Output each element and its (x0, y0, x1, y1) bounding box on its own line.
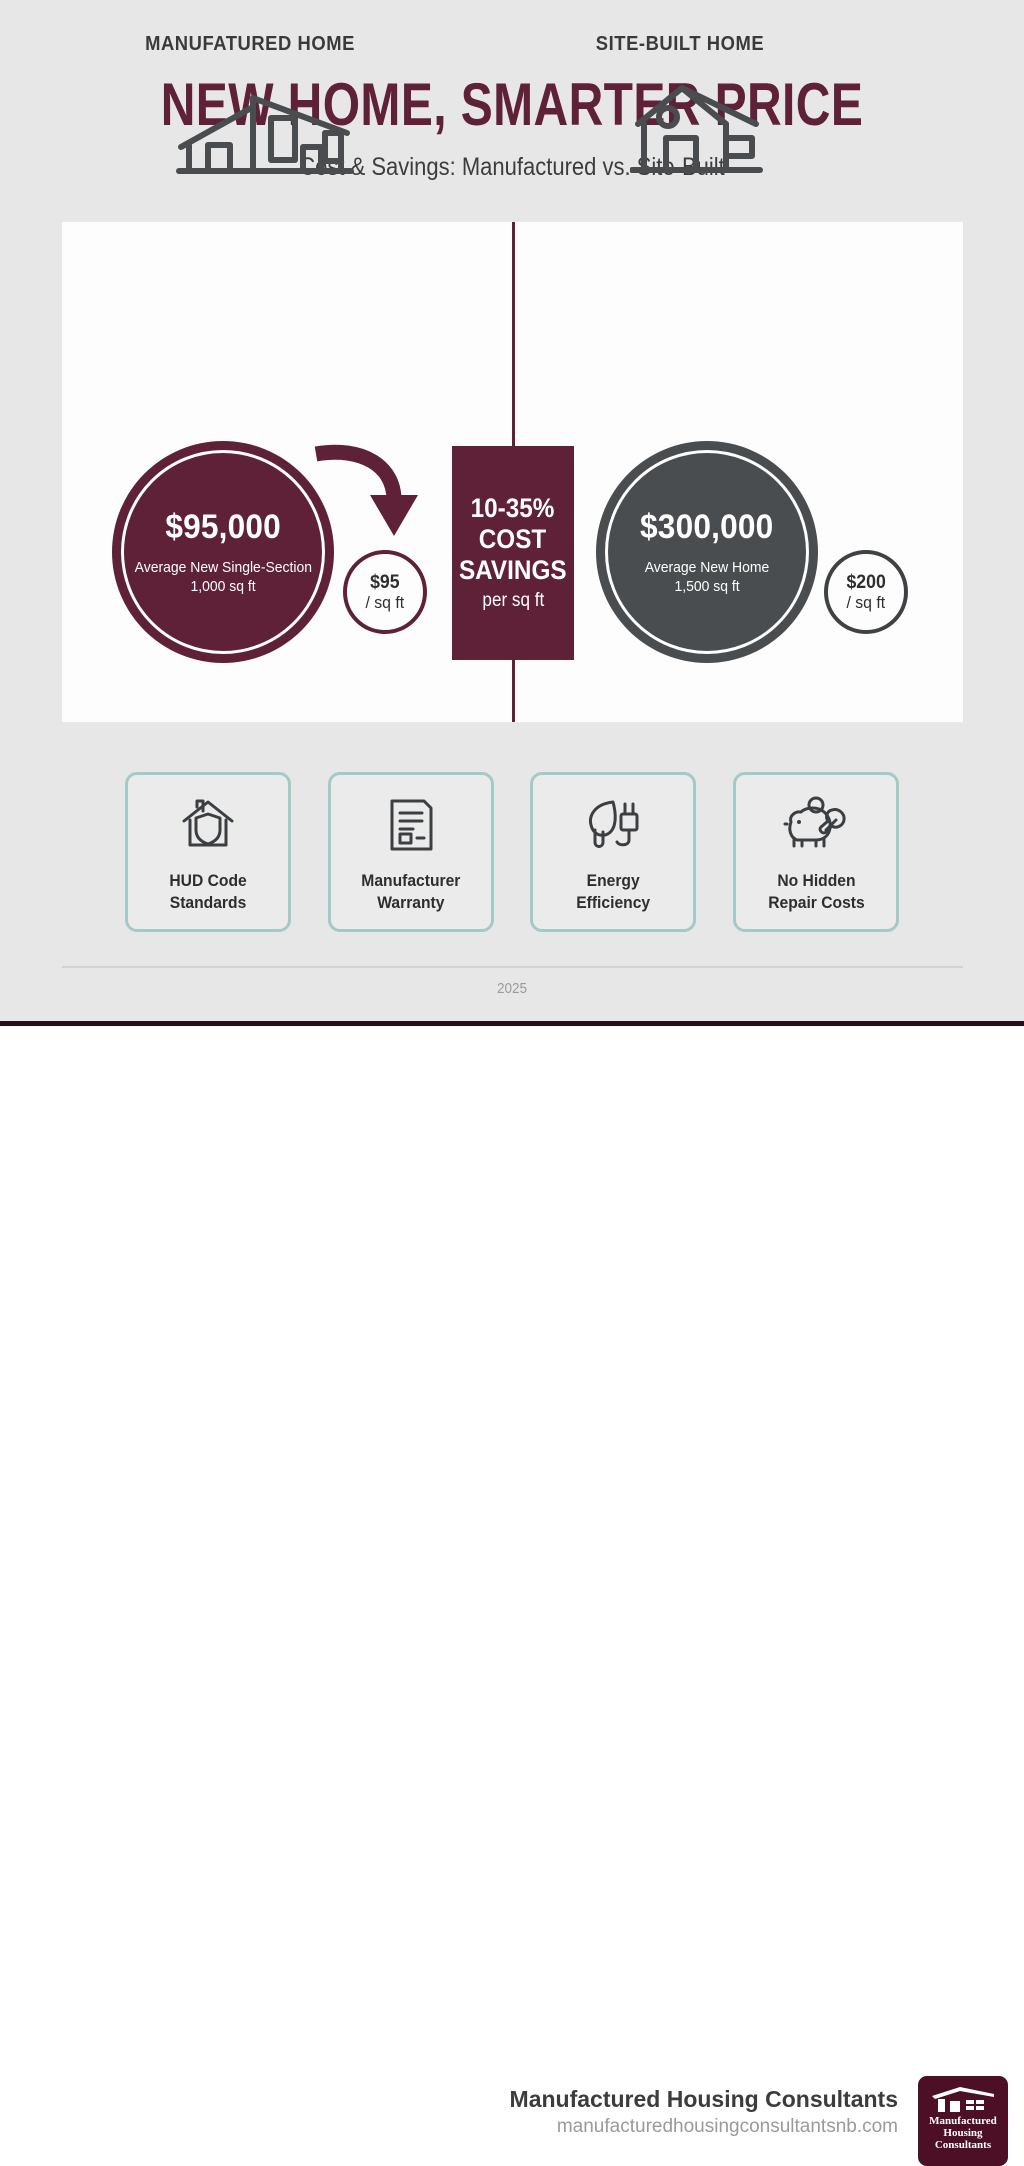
feature-card-no-hidden-costs[interactable]: No Hidden Repair Costs (733, 772, 899, 932)
manufactured-price: $95,000 (165, 508, 281, 546)
feature-label-line-2: Standards (170, 893, 246, 912)
feature-card-label: Energy Efficiency (576, 870, 650, 914)
feature-label-line-2: Efficiency (576, 893, 650, 912)
logo-wordmark: Manufactured Housing Consultants (929, 2115, 997, 2151)
feature-label-line-2: Warranty (377, 893, 444, 912)
feature-card-hud-code[interactable]: HUD Code Standards (125, 772, 291, 932)
logo-house-icon (930, 2085, 996, 2113)
logo-line-2: Housing (929, 2127, 997, 2139)
company-website[interactable]: manufacturedhousingconsultantsnb.com (557, 2116, 898, 2138)
logo-line-1: Manufactured (929, 2115, 997, 2127)
year-label: 2025 (51, 980, 973, 997)
site-built-price-circle: $300,000 Average New Home 1,500 sq ft (596, 441, 818, 663)
company-name: Manufactured Housing Consultants (510, 2086, 898, 2113)
manufactured-caption-2: 1,000 sq ft (190, 577, 255, 596)
cost-savings-badge: 10-35% COST SAVINGS per sq ft (452, 446, 574, 660)
document-icon (386, 796, 436, 854)
savings-label-1: COST (479, 524, 547, 555)
feature-label-line-1: Manufacturer (361, 871, 460, 890)
site-built-per-sqft-unit: / sq ft (847, 593, 886, 613)
feature-card-energy[interactable]: Energy Efficiency (530, 772, 696, 932)
feature-label-line-1: No Hidden (777, 871, 855, 890)
savings-unit: per sq ft (482, 588, 544, 614)
infographic-root: NEW HOME, SMARTER PRICE Cost & Savings: … (0, 0, 1024, 1154)
house-shield-icon (179, 796, 237, 854)
manufactured-home-icon (175, 85, 355, 185)
site-built-caption-2: 1,500 sq ft (674, 577, 739, 596)
feature-card-warranty[interactable]: Manufacturer Warranty (328, 772, 494, 932)
manufactured-per-sqft-amount: $95 (370, 572, 399, 593)
site-built-home-icon (630, 82, 764, 183)
year-divider (62, 966, 963, 968)
piggy-wrench-icon (783, 796, 849, 854)
site-built-per-sqft-circle: $200 / sq ft (824, 550, 908, 634)
feature-card-label: HUD Code Standards (169, 870, 246, 914)
feature-label-line-1: HUD Code (169, 871, 246, 890)
site-built-price: $300,000 (640, 508, 773, 546)
site-built-per-sqft-amount: $200 (846, 572, 885, 593)
feature-label-line-2: Repair Costs (768, 893, 864, 912)
feature-card-list: HUD Code Standards Manufacturer Warranty (125, 772, 899, 932)
manufactured-price-circle: $95,000 Average New Single-Section 1,000… (112, 441, 334, 663)
feature-label-line-1: Energy (587, 871, 640, 890)
leaf-plug-icon (583, 796, 643, 854)
feature-card-label: No Hidden Repair Costs (768, 870, 864, 914)
site-built-caption-1: Average New Home (645, 558, 770, 577)
company-logo: Manufactured Housing Consultants (918, 2076, 1008, 2166)
feature-card-label: Manufacturer Warranty (361, 870, 460, 914)
manufactured-caption-1: Average New Single-Section (134, 558, 311, 577)
savings-percent: 10-35% (471, 493, 555, 524)
savings-label-2: SAVINGS (459, 555, 567, 586)
column-title-site-built: SITE-BUILT HOME (496, 33, 864, 56)
savings-arrow-icon (310, 440, 420, 555)
column-title-manufactured: MANUFATURED HOME (66, 33, 434, 56)
manufactured-per-sqft-unit: / sq ft (366, 593, 405, 613)
logo-line-3: Consultants (929, 2139, 997, 2151)
manufactured-per-sqft-circle: $95 / sq ft (343, 550, 427, 634)
footer: Manufactured Housing Consultants manufac… (0, 1026, 1024, 1154)
